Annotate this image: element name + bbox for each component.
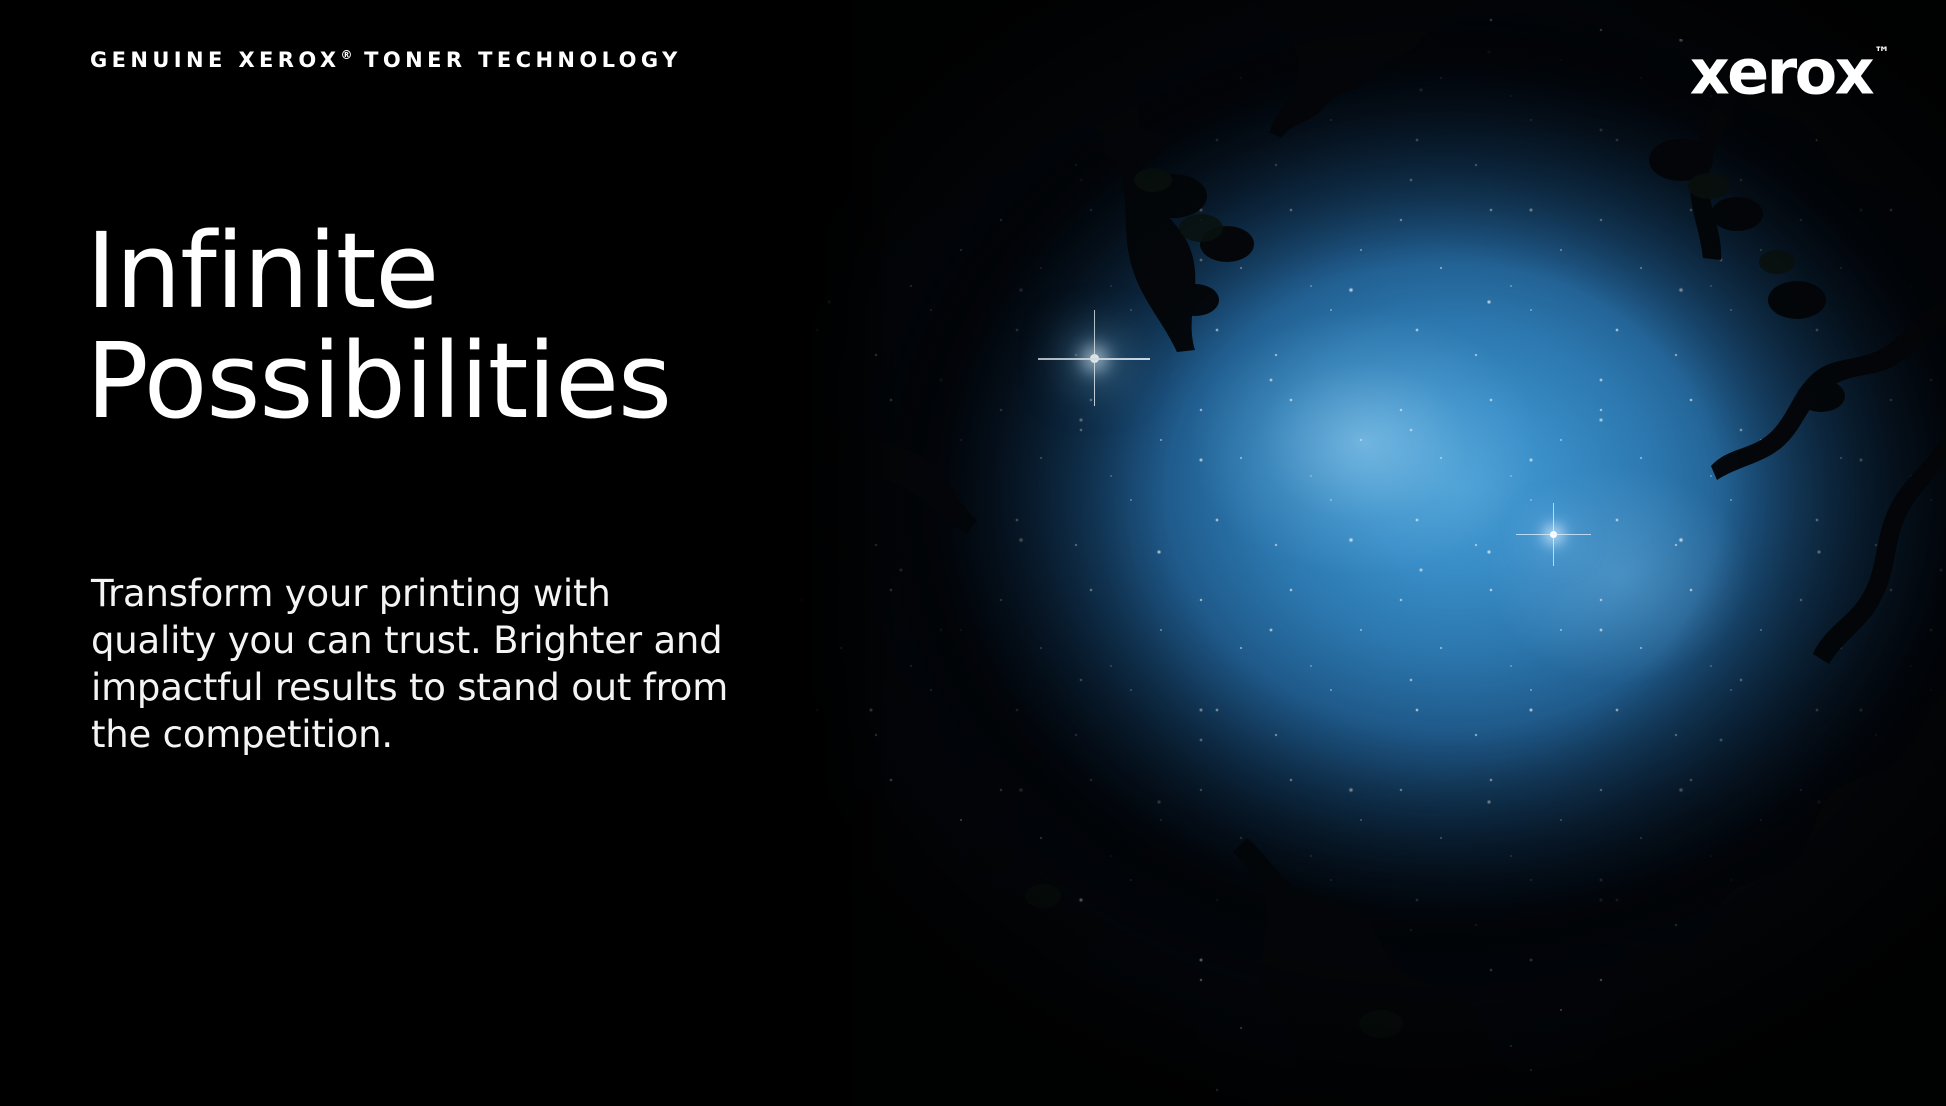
- marketing-banner: GENUINE XEROX® TONER TECHNOLOGY Infinite…: [0, 0, 1946, 1106]
- eyebrow-post: TONER TECHNOLOGY: [352, 48, 681, 72]
- registered-trademark-icon: ®: [340, 48, 352, 62]
- body-line-4: the competition.: [91, 711, 711, 758]
- body-line-3: impactful results to stand out from: [91, 664, 711, 711]
- headline-line-1: Infinite: [86, 216, 671, 326]
- xerox-wordmark: xerox: [1690, 36, 1872, 109]
- xerox-logo: xerox™: [1690, 36, 1888, 104]
- page-title: Infinite Possibilities: [86, 216, 671, 436]
- left-text-panel: GENUINE XEROX® TONER TECHNOLOGY Infinite…: [0, 0, 781, 1106]
- headline-line-2: Possibilities: [86, 326, 671, 436]
- eyebrow-pre: GENUINE XEROX: [90, 48, 340, 72]
- body-line-1: Transform your printing with: [91, 570, 711, 617]
- body-line-2: quality you can trust. Brighter and: [91, 617, 711, 664]
- tree-silhouettes: [781, 0, 1946, 1106]
- eyebrow-text: GENUINE XEROX® TONER TECHNOLOGY: [90, 48, 682, 72]
- trademark-icon: ™: [1874, 43, 1890, 62]
- body-copy: Transform your printing with quality you…: [91, 570, 711, 758]
- starry-forest-photo: xerox™: [781, 0, 1946, 1106]
- photo-left-edge-fade: [781, 0, 901, 1106]
